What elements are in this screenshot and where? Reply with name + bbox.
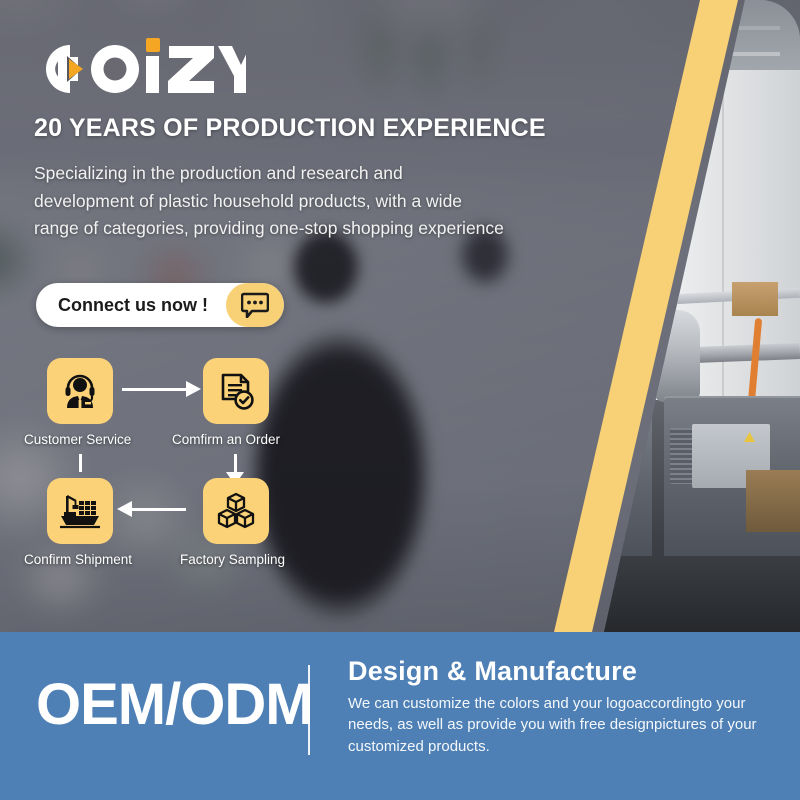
pulley-wheel (610, 170, 648, 214)
flow-label-customer-service: Customer Service (24, 432, 131, 447)
connect-us-label: Connect us now ! (36, 283, 226, 327)
factory-photo (330, 0, 800, 632)
hero-description: Specializing in the production and resea… (34, 160, 504, 243)
logo-i-dot (146, 38, 160, 52)
logo-wordmark (36, 38, 246, 100)
cardboard-box (732, 282, 778, 316)
arrow-right-icon (186, 381, 201, 397)
design-manufacture-block: Design & Manufacture We can customize th… (348, 656, 778, 757)
machine-access-panel (366, 444, 442, 504)
signal-light (526, 264, 533, 290)
headset-agent-icon (60, 371, 100, 411)
warning-triangle-icon (582, 440, 593, 450)
oem-odm-title: OEM/ODM (36, 676, 313, 734)
flow-step-confirm-shipment[interactable] (47, 478, 113, 544)
process-flow-diagram: Customer Service Comfirm an Order (0, 350, 330, 580)
factory-scene (330, 0, 800, 632)
brand-logo[interactable]: COiZY (36, 38, 246, 100)
bottom-banner: OEM/ODM Design & Manufacture We can cust… (0, 632, 800, 800)
hoist-pulley (580, 170, 650, 218)
material-hopper (566, 318, 612, 410)
design-manufacture-title: Design & Manufacture (348, 656, 778, 687)
material-hopper (389, 345, 428, 423)
flow-label-confirm-shipment: Confirm Shipment (24, 552, 132, 567)
connector-line-left (79, 454, 82, 472)
connector-line-bottom (132, 508, 186, 511)
vertical-divider (308, 665, 310, 755)
hoist-hook-ring (612, 214, 636, 248)
flow-label-factory-sampling: Factory Sampling (180, 552, 285, 567)
machine-vent (508, 436, 548, 492)
chat-bubble-glyph (241, 292, 269, 318)
cargo-ship-icon (59, 492, 101, 530)
promo-banner: COiZY 20 YEARS OF PRODUCTION EXPERIENCE … (0, 0, 800, 800)
page-title: 20 YEARS OF PRODUCTION EXPERIENCE (34, 114, 546, 143)
connect-us-button[interactable]: Connect us now ! (36, 283, 284, 327)
chat-bubble-icon[interactable] (226, 283, 284, 327)
hoist-cable (635, 0, 638, 172)
design-manufacture-body: We can customize the colors and your log… (348, 693, 778, 757)
warning-triangle-icon (418, 452, 429, 462)
connector-line-right (234, 454, 237, 472)
material-hopper (478, 326, 524, 418)
flow-label-confirm-order: Comfirm an Order (172, 432, 280, 447)
molding-machine (340, 420, 490, 570)
pulley-wheel (580, 170, 618, 214)
flow-step-customer-service[interactable] (47, 358, 113, 424)
flow-step-confirm-order[interactable] (203, 358, 269, 424)
factory-ceiling-rail (480, 52, 780, 56)
work-table (746, 470, 800, 532)
hoist-cable (615, 0, 618, 172)
document-check-icon (216, 371, 256, 411)
flow-step-factory-sampling[interactable] (203, 478, 269, 544)
connector-line-top (122, 388, 186, 391)
arrow-left-icon (117, 501, 132, 517)
boxes-icon (216, 491, 256, 531)
wall-seam (598, 70, 600, 400)
pulley-hub (592, 186, 605, 199)
orange-hose (428, 350, 447, 440)
